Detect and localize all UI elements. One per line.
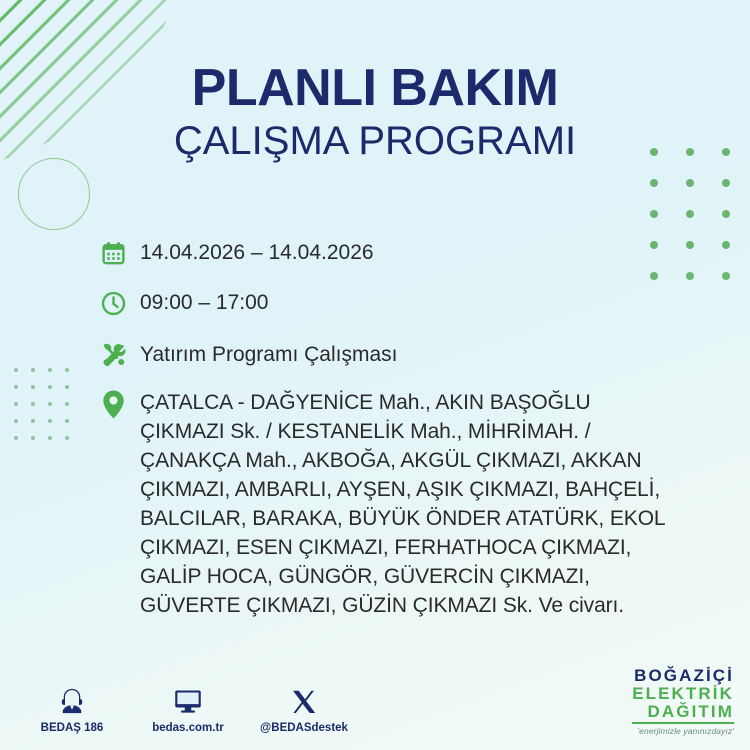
location-line: GALİP HOCA, GÜNGÖR, GÜVERCİN ÇIKMAZI, xyxy=(140,563,666,592)
tools-icon xyxy=(100,338,140,372)
contact-x-label: @BEDASdestek xyxy=(260,722,348,734)
work-type-value: Yatırım Programı Çalışması xyxy=(140,338,398,368)
logo-line-bogazici: BOĞAZİÇİ xyxy=(632,667,734,685)
contact-website[interactable]: bedas.com.tr xyxy=(150,682,226,734)
dot-grid-left-decoration xyxy=(14,368,82,453)
info-row-work-type: Yatırım Programı Çalışması xyxy=(100,338,720,372)
location-line: GÜVERTE ÇIKMAZI, GÜZİN ÇIKMAZI Sk. Ve ci… xyxy=(140,592,666,621)
location-line: ÇIKMAZI, AMBARLI, AYŞEN, AŞIK ÇIKMAZI, B… xyxy=(140,476,666,505)
location-line: ÇATALCA - DAĞYENİCE Mah., AKIN BAŞOĞLU xyxy=(140,389,666,418)
contact-phone-label: BEDAŞ 186 xyxy=(41,722,104,734)
logo-line-dagitim: DAĞITIM xyxy=(632,703,734,724)
poster-canvas: PLANLI BAKIM ÇALIŞMA PROGRAMI 14 xyxy=(0,0,750,750)
contact-website-label: bedas.com.tr xyxy=(152,722,224,734)
location-line: ÇIKMAZI, ESEN ÇIKMAZI, FERHATHOCA ÇIKMAZ… xyxy=(140,534,666,563)
map-pin-icon xyxy=(100,386,140,420)
x-twitter-icon xyxy=(290,682,318,716)
page-title: PLANLI BAKIM ÇALIŞMA PROGRAMI xyxy=(0,62,750,164)
title-subtitle: ÇALIŞMA PROGRAMI xyxy=(0,119,750,164)
location-line: ÇANAKÇA Mah., AKBOĞA, AKGÜL ÇIKMAZI, AKK… xyxy=(140,447,666,476)
monitor-icon xyxy=(172,682,204,716)
circle-outline-decoration xyxy=(18,158,90,230)
contact-phone[interactable]: BEDAŞ 186 xyxy=(34,682,110,734)
info-row-location: ÇATALCA - DAĞYENİCE Mah., AKIN BAŞOĞLU Ç… xyxy=(100,386,720,621)
info-list: 14.04.2026 – 14.04.2026 09:00 – 17:00 xyxy=(100,236,720,633)
logo-line-elektrik: ELEKTRİK xyxy=(632,685,734,703)
location-line: BALCILAR, BARAKA, BÜYÜK ÖNDER ATATÜRK, E… xyxy=(140,505,666,534)
company-logo: BOĞAZİÇİ ELEKTRİK DAĞITIM 'enerjimizle y… xyxy=(632,667,734,736)
calendar-icon xyxy=(100,236,140,270)
date-value: 14.04.2026 – 14.04.2026 xyxy=(140,236,374,266)
info-row-time: 09:00 – 17:00 xyxy=(100,286,720,320)
clock-icon xyxy=(100,286,140,320)
title-main: PLANLI BAKIM xyxy=(0,62,750,115)
time-value: 09:00 – 17:00 xyxy=(140,286,268,316)
info-row-date: 14.04.2026 – 14.04.2026 xyxy=(100,236,720,270)
location-value: ÇATALCA - DAĞYENİCE Mah., AKIN BAŞOĞLU Ç… xyxy=(140,386,666,621)
footer-contacts: BEDAŞ 186 bedas.com.tr @BEDASdestek xyxy=(34,682,342,734)
location-line: ÇIKMAZI Sk. / KESTANELİK Mah., MİHRİMAH.… xyxy=(140,418,666,447)
contact-x-twitter[interactable]: @BEDASdestek xyxy=(266,682,342,734)
headset-operator-icon xyxy=(57,682,87,716)
logo-tagline: 'enerjimizle yanınızdayız' xyxy=(632,727,734,736)
